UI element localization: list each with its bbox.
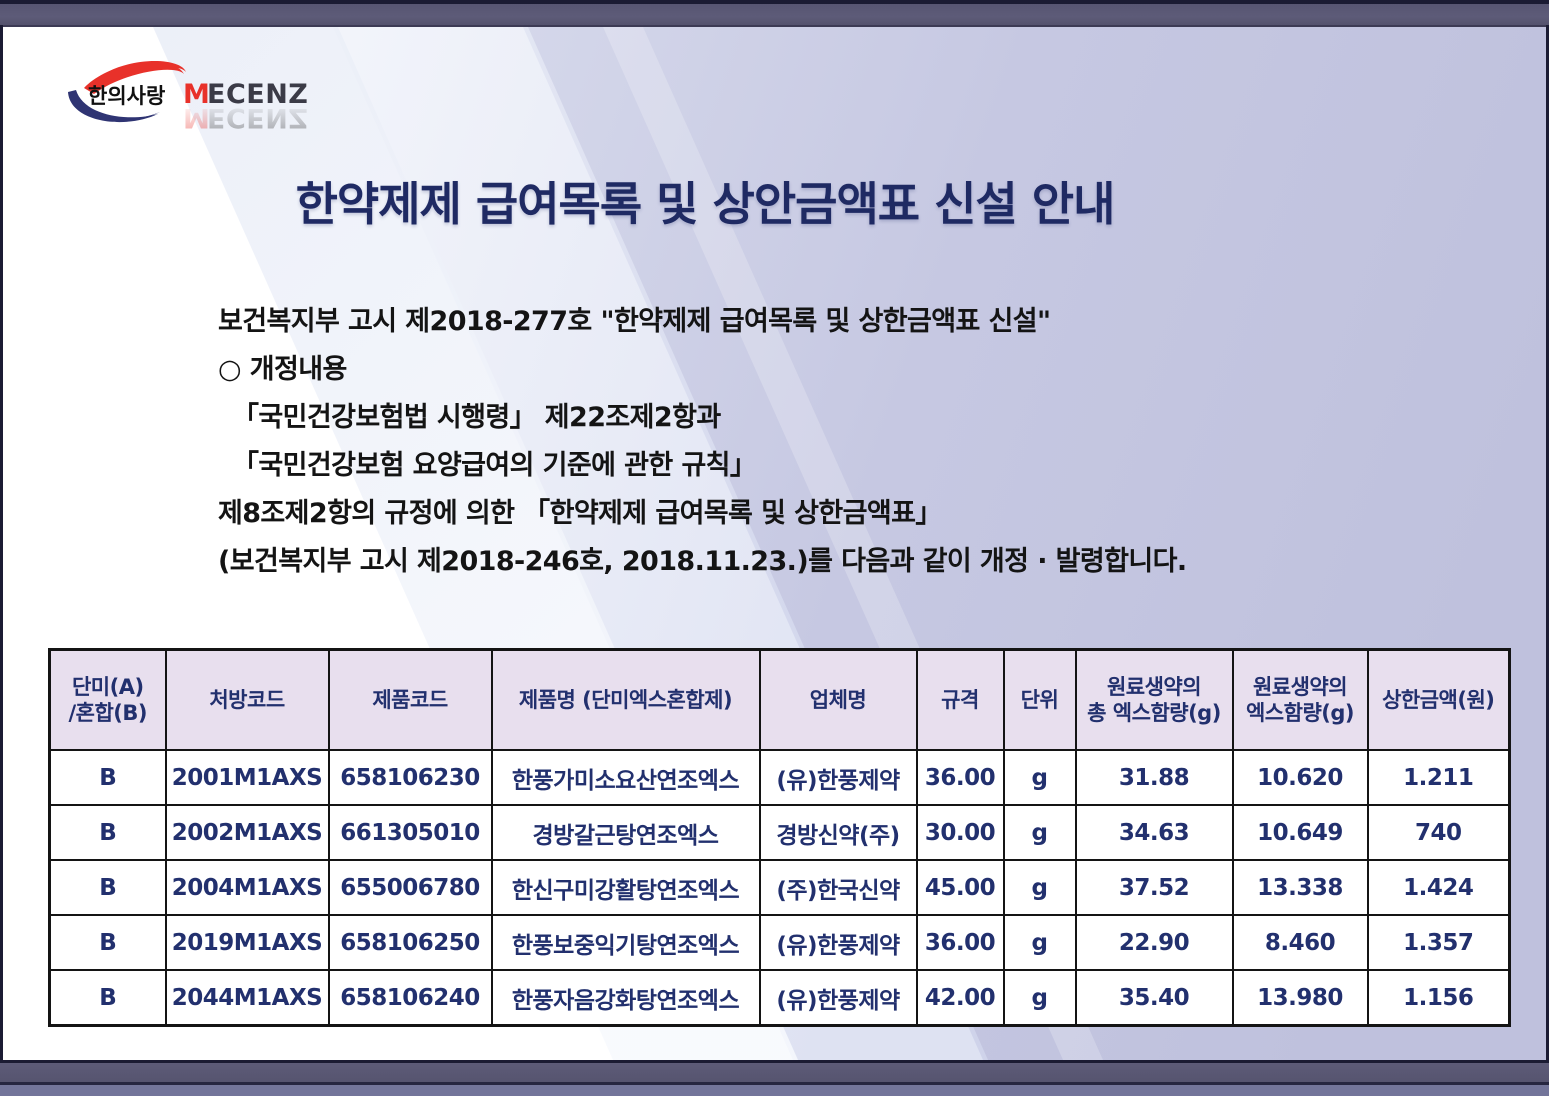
cell-unit: g <box>1004 805 1076 860</box>
svg-text:한의사랑: 한의사랑 <box>88 84 165 108</box>
cell-spec: 36.00 <box>917 750 1004 805</box>
slide-page: 한의사랑 M ECENZ M ECENZ 한약제제 급여목록 및 상안금액표 신… <box>0 0 1549 1096</box>
col-header-unit: 단위 <box>1004 650 1076 751</box>
cell-price: 1.211 <box>1368 750 1510 805</box>
cell-spec: 42.00 <box>917 970 1004 1026</box>
col-header-type-line2: /혼합(B) <box>54 700 162 726</box>
cell-product-name: 한풍가미소요산연조엑스 <box>492 750 760 805</box>
cell-product-name: 한신구미강활탕연조엑스 <box>492 860 760 915</box>
col-header-rx-code: 처방코드 <box>166 650 329 751</box>
cell-unit: g <box>1004 750 1076 805</box>
cell-type: B <box>50 805 166 860</box>
notice-line-5: 제8조제2항의 규정에 의한 「한약제제 급여목록 및 상한금액표」 <box>218 490 1318 538</box>
cell-maker: (유)한풍제약 <box>760 970 917 1026</box>
col-header-price: 상한금액(원) <box>1368 650 1510 751</box>
col-header-total-extract: 원료생약의 총 엑스함량(g) <box>1076 650 1233 751</box>
top-band-edge <box>0 25 1549 27</box>
cell-product-code: 655006780 <box>329 860 492 915</box>
cell-rx-code: 2001M1AXS <box>166 750 329 805</box>
col-header-type-line1: 단미(A) <box>54 674 162 700</box>
bottom-band-upper <box>0 1063 1549 1082</box>
cell-total-extract: 31.88 <box>1076 750 1233 805</box>
cell-extract: 10.649 <box>1233 805 1368 860</box>
cell-spec: 45.00 <box>917 860 1004 915</box>
cell-total-extract: 35.40 <box>1076 970 1233 1026</box>
cell-product-name: 한풍자음강화탕연조엑스 <box>492 970 760 1026</box>
col-header-spec: 규격 <box>917 650 1004 751</box>
notice-line-2: ○ 개정내용 <box>218 346 1318 394</box>
col-header-extract-line1: 원료생약의 <box>1237 674 1364 700</box>
cell-extract: 13.338 <box>1233 860 1368 915</box>
cell-product-code: 658106230 <box>329 750 492 805</box>
svg-text:ECENZ: ECENZ <box>207 102 308 133</box>
cell-price: 1.424 <box>1368 860 1510 915</box>
cell-price: 1.156 <box>1368 970 1510 1026</box>
cell-unit: g <box>1004 970 1076 1026</box>
cell-product-code: 658106250 <box>329 915 492 970</box>
col-header-product-name: 제품명 (단미엑스혼합제) <box>492 650 760 751</box>
table-body: B 2001M1AXS 658106230 한풍가미소요산연조엑스 (유)한풍제… <box>50 750 1510 1026</box>
table-row: B 2001M1AXS 658106230 한풍가미소요산연조엑스 (유)한풍제… <box>50 750 1510 805</box>
price-table-container: 단미(A) /혼합(B) 처방코드 제품코드 제품명 (단미엑스혼합제) 업체명… <box>48 648 1508 1027</box>
price-table: 단미(A) /혼합(B) 처방코드 제품코드 제품명 (단미엑스혼합제) 업체명… <box>48 648 1511 1027</box>
cell-total-extract: 37.52 <box>1076 860 1233 915</box>
table-header-row: 단미(A) /혼합(B) 처방코드 제품코드 제품명 (단미엑스혼합제) 업체명… <box>50 650 1510 751</box>
cell-total-extract: 22.90 <box>1076 915 1233 970</box>
notice-line-3: 「국민건강보험법 시행령」 제22조제2항과 <box>218 394 1318 442</box>
table-row: B 2019M1AXS 658106250 한풍보중익기탕연조엑스 (유)한풍제… <box>50 915 1510 970</box>
cell-spec: 36.00 <box>917 915 1004 970</box>
cell-type: B <box>50 915 166 970</box>
cell-product-code: 661305010 <box>329 805 492 860</box>
cell-price: 740 <box>1368 805 1510 860</box>
cell-extract: 13.980 <box>1233 970 1368 1026</box>
notice-body: 보건복지부 고시 제2018-277호 "한약제제 급여목록 및 상한금액표 신… <box>218 298 1318 586</box>
notice-line-4: 「국민건강보험 요양급여의 기준에 관한 규칙」 <box>218 442 1318 490</box>
cell-unit: g <box>1004 860 1076 915</box>
cell-maker: (유)한풍제약 <box>760 750 917 805</box>
company-logo: 한의사랑 M ECENZ M ECENZ <box>62 58 322 140</box>
cell-type: B <box>50 750 166 805</box>
col-header-extract-line2: 엑스함량(g) <box>1237 700 1364 726</box>
cell-product-code: 658106240 <box>329 970 492 1026</box>
notice-line-6: (보건복지부 고시 제2018-246호, 2018.11.23.)를 다음과 … <box>218 538 1318 586</box>
cell-maker: (주)한국신약 <box>760 860 917 915</box>
cell-type: B <box>50 970 166 1026</box>
cell-spec: 30.00 <box>917 805 1004 860</box>
col-header-type: 단미(A) /혼합(B) <box>50 650 166 751</box>
table-row: B 2044M1AXS 658106240 한풍자음강화탕연조엑스 (유)한풍제… <box>50 970 1510 1026</box>
col-header-product-code: 제품코드 <box>329 650 492 751</box>
cell-maker: (유)한풍제약 <box>760 915 917 970</box>
col-header-extract: 원료생약의 엑스함량(g) <box>1233 650 1368 751</box>
cell-unit: g <box>1004 915 1076 970</box>
cell-rx-code: 2004M1AXS <box>166 860 329 915</box>
cell-type: B <box>50 860 166 915</box>
cell-maker: 경방신약(주) <box>760 805 917 860</box>
cell-rx-code: 2044M1AXS <box>166 970 329 1026</box>
notice-line-1: 보건복지부 고시 제2018-277호 "한약제제 급여목록 및 상한금액표 신… <box>218 298 1318 346</box>
col-header-total-extract-line1: 원료생약의 <box>1080 674 1229 700</box>
table-row: B 2004M1AXS 655006780 한신구미강활탕연조엑스 (주)한국신… <box>50 860 1510 915</box>
top-band <box>0 4 1549 25</box>
page-title: 한약제제 급여목록 및 상안금액표 신설 안내 <box>0 168 1410 234</box>
cell-total-extract: 34.63 <box>1076 805 1233 860</box>
table-row: B 2002M1AXS 661305010 경방갈근탕연조엑스 경방신약(주) … <box>50 805 1510 860</box>
cell-price: 1.357 <box>1368 915 1510 970</box>
cell-rx-code: 2019M1AXS <box>166 915 329 970</box>
col-header-total-extract-line2: 총 엑스함량(g) <box>1080 700 1229 726</box>
cell-product-name: 경방갈근탕연조엑스 <box>492 805 760 860</box>
cell-extract: 10.620 <box>1233 750 1368 805</box>
bottom-band-lower <box>0 1085 1549 1096</box>
col-header-maker: 업체명 <box>760 650 917 751</box>
cell-product-name: 한풍보중익기탕연조엑스 <box>492 915 760 970</box>
cell-rx-code: 2002M1AXS <box>166 805 329 860</box>
cell-extract: 8.460 <box>1233 915 1368 970</box>
